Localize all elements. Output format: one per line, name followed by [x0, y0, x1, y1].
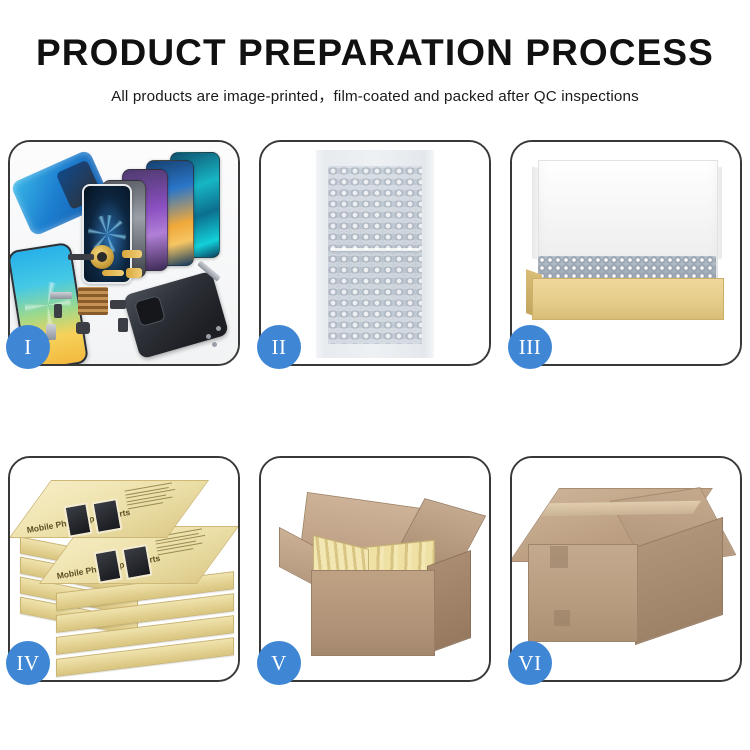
page-header: PRODUCT PREPARATION PROCESS All products… — [0, 0, 750, 106]
step-badge-4: IV — [6, 641, 50, 685]
box-stack: Mobile Phone Spare Parts Mobile Phone Sp… — [20, 474, 232, 670]
tape-tab-upper — [550, 546, 568, 568]
step-badge-1: I — [6, 325, 50, 369]
step-badge-2: II — [257, 325, 301, 369]
carton-front-panel — [311, 570, 435, 656]
small-part-3 — [54, 304, 62, 318]
step-badge-5: V — [257, 641, 301, 685]
step-panel-5[interactable]: V — [259, 456, 491, 682]
step-badge-3: III — [508, 325, 552, 369]
step-panel-1[interactable]: I — [8, 140, 240, 366]
wrap-seam — [330, 248, 420, 251]
inner-box — [526, 156, 728, 346]
flex-cable-1 — [122, 250, 142, 258]
small-part-5 — [118, 318, 128, 332]
open-shipping-carton — [277, 484, 473, 660]
sealed-shipping-carton — [528, 488, 728, 652]
screen-glass-protector — [82, 184, 132, 284]
bubble-wrap-bag — [316, 150, 434, 358]
stacked-boxes-image: Mobile Phone Spare Parts Mobile Phone Sp… — [10, 458, 238, 680]
box-screen-image-2 — [91, 498, 122, 534]
flex-cable-3 — [102, 270, 124, 276]
screw-2 — [216, 326, 221, 331]
page-subtitle: All products are image-printed，film-coat… — [0, 84, 750, 106]
box-screen-image-4 — [121, 544, 152, 580]
carton-front-face — [528, 544, 638, 642]
bubble-pattern — [328, 166, 422, 344]
step-badge-6: VI — [508, 641, 552, 685]
bubble-wrap-image — [261, 142, 489, 364]
small-part-2 — [50, 292, 72, 299]
process-steps-grid: I II III — [8, 140, 742, 682]
small-part-1 — [68, 254, 94, 260]
phone-parts-image — [10, 142, 238, 364]
sealed-carton-image — [512, 458, 740, 680]
screw-3 — [212, 342, 217, 347]
flex-cable-2 — [126, 268, 142, 278]
box-tray-front — [532, 278, 724, 320]
packing-tape — [541, 501, 701, 517]
step-panel-6[interactable]: VI — [510, 456, 742, 682]
page-title: PRODUCT PREPARATION PROCESS — [0, 34, 750, 73]
vibrator-part — [76, 322, 90, 334]
camera-module-icon — [134, 295, 166, 327]
screw-1 — [206, 334, 211, 339]
open-carton-image — [261, 458, 489, 680]
small-part-4 — [110, 300, 126, 309]
step-panel-4[interactable]: Mobile Phone Spare Parts Mobile Phone Sp… — [8, 456, 240, 682]
step-panel-3[interactable]: III — [510, 140, 742, 366]
tape-tab-lower — [554, 610, 570, 626]
inner-box-image — [512, 142, 740, 364]
screw-tray-part — [78, 287, 108, 315]
step-panel-2[interactable]: II — [259, 140, 491, 366]
